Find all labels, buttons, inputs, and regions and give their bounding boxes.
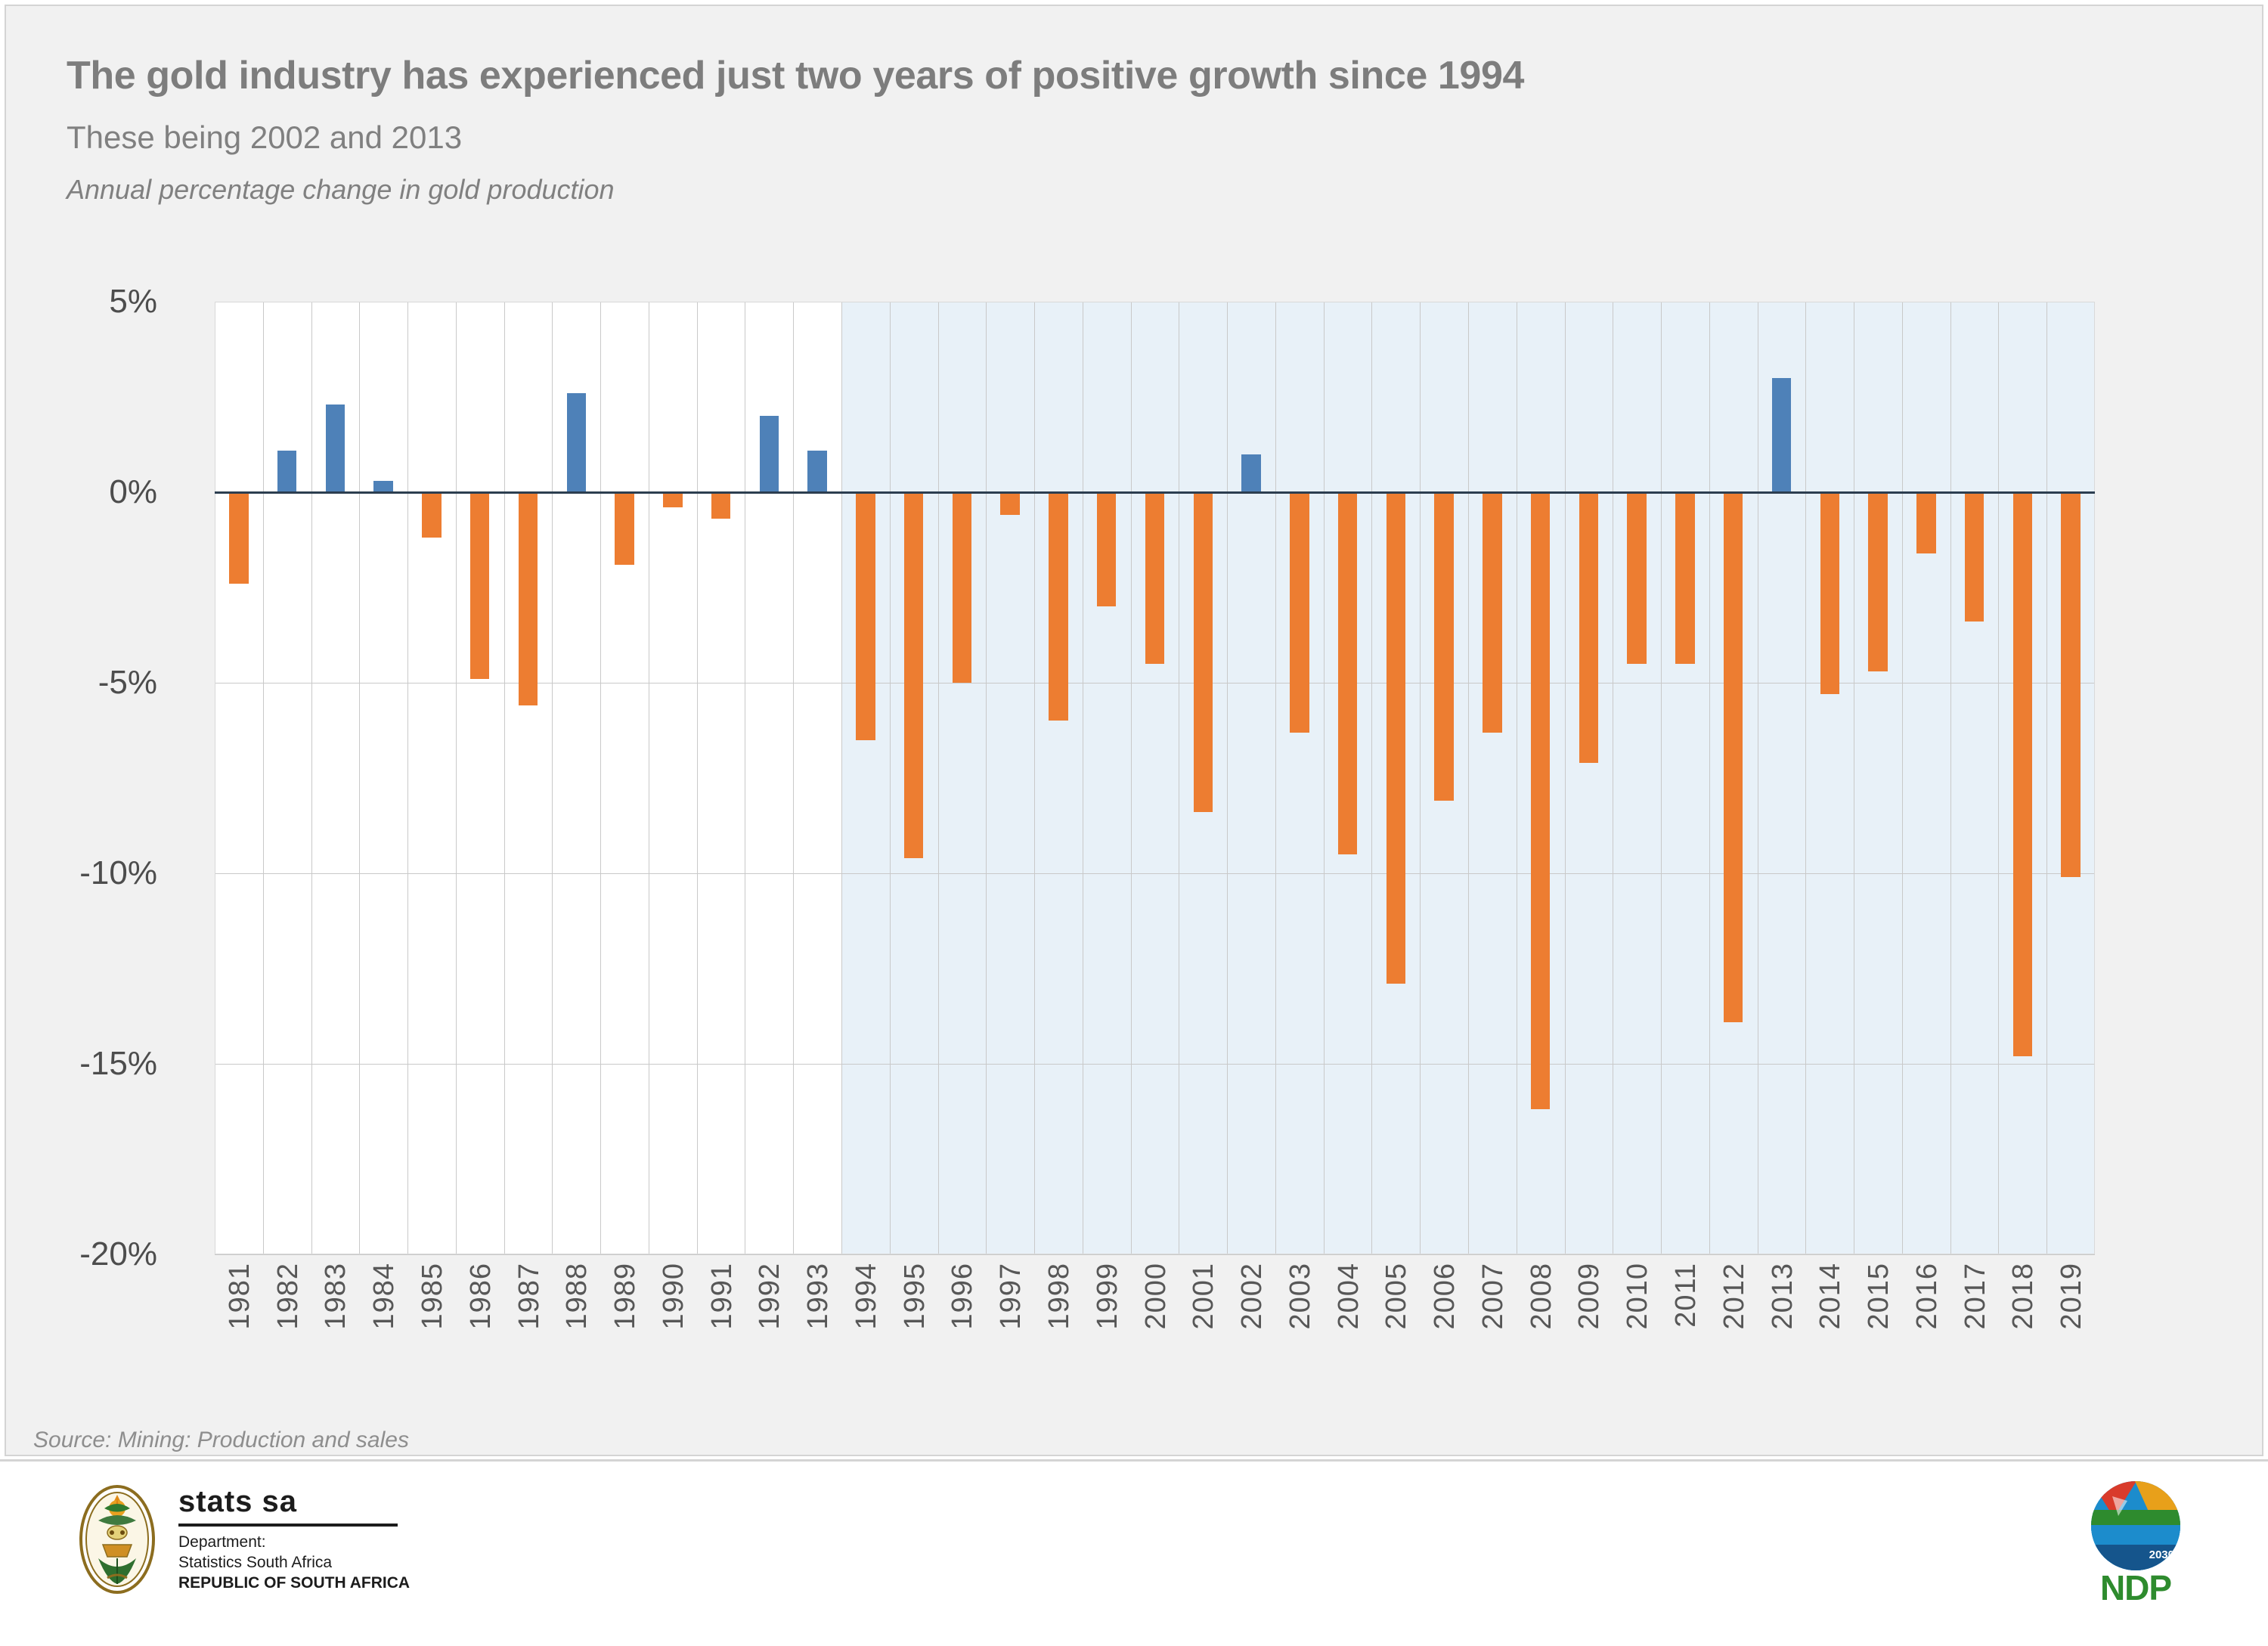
gridline-vertical	[1758, 302, 1758, 1254]
bar-1999[interactable]	[1097, 492, 1117, 606]
bar-1990[interactable]	[663, 492, 683, 507]
gridline-vertical	[600, 302, 601, 1254]
bar-1981[interactable]	[229, 492, 249, 584]
x-axis-tick-label: 2006	[1429, 1263, 1461, 1330]
x-axis-tick-label: 1981	[224, 1263, 256, 1330]
bar-2001[interactable]	[1194, 492, 1213, 812]
gridline-vertical	[359, 302, 360, 1254]
bar-2003[interactable]	[1290, 492, 1309, 733]
gridline-vertical	[1950, 302, 1951, 1254]
bar-1998[interactable]	[1049, 492, 1068, 721]
bar-2019[interactable]	[2061, 492, 2081, 877]
gridline-vertical	[456, 302, 457, 1254]
ndp-branding: 2030 NDP	[2071, 1481, 2200, 1608]
gridline-vertical	[1371, 302, 1372, 1254]
y-axis-tick-label: -10%	[0, 854, 157, 892]
bar-1996[interactable]	[953, 492, 972, 683]
bar-2012[interactable]	[1724, 492, 1743, 1022]
x-axis-tick-label: 2014	[1814, 1263, 1847, 1330]
gridline-vertical	[1468, 302, 1469, 1254]
gridline-vertical	[1661, 302, 1662, 1254]
x-axis-tick-label: 1985	[417, 1263, 449, 1330]
bar-1993[interactable]	[807, 451, 827, 492]
stats-sa-branding: stats sa Department: Statistics South Af…	[76, 1483, 410, 1596]
department-line-2: Statistics South Africa	[178, 1553, 410, 1573]
bar-2015[interactable]	[1868, 492, 1888, 671]
bar-2000[interactable]	[1145, 492, 1165, 664]
gridline-vertical	[263, 302, 264, 1254]
page-subtitle: These being 2002 and 2013	[67, 119, 462, 156]
bar-2018[interactable]	[2013, 492, 2033, 1056]
bar-1995[interactable]	[904, 492, 924, 858]
x-axis-tick-label: 2010	[1622, 1263, 1654, 1330]
gridline-vertical	[1131, 302, 1132, 1254]
ndp-wordmark: NDP	[2071, 1567, 2200, 1608]
x-axis-tick-label: 1993	[802, 1263, 835, 1330]
bar-2006[interactable]	[1434, 492, 1454, 801]
x-axis-tick-label: 2011	[1670, 1263, 1703, 1328]
gridline-vertical	[649, 302, 649, 1254]
gridline-vertical	[1420, 302, 1421, 1254]
bar-1988[interactable]	[567, 393, 587, 492]
gridline-horizontal	[215, 302, 2095, 302]
x-axis-tick-label: 1998	[1043, 1263, 1076, 1330]
gridline-vertical	[407, 302, 408, 1254]
bar-2009[interactable]	[1579, 492, 1599, 763]
chart-card: The gold industry has experienced just t…	[5, 5, 2263, 1456]
x-axis-tick-label: 1988	[561, 1263, 593, 1330]
x-axis-tick-label: 1983	[320, 1263, 352, 1330]
gridline-vertical	[697, 302, 698, 1254]
x-axis-tick-label: 2013	[1767, 1263, 1799, 1330]
bar-2013[interactable]	[1772, 378, 1792, 492]
bar-1997[interactable]	[1000, 492, 1020, 515]
x-axis-tick-label: 2000	[1140, 1263, 1173, 1330]
x-axis-tick-label: 1995	[899, 1263, 931, 1330]
bar-1986[interactable]	[470, 492, 490, 679]
stats-sa-wordmark: stats sa	[178, 1485, 410, 1524]
gridline-vertical	[793, 302, 794, 1254]
gridline-vertical	[1902, 302, 1903, 1254]
gridline-vertical	[745, 302, 745, 1254]
bar-2007[interactable]	[1483, 492, 1502, 733]
x-axis-tick-label: 2008	[1526, 1263, 1558, 1330]
x-axis-tick-label: 2002	[1236, 1263, 1269, 1330]
source-note: Source: Mining: Production and sales	[33, 1427, 409, 1453]
ndp-year-label: 2030	[2149, 1548, 2174, 1561]
bar-2002[interactable]	[1241, 454, 1261, 492]
gridline-vertical	[1179, 302, 1179, 1254]
y-axis-tick-label: 0%	[0, 473, 157, 511]
x-axis-tick-label: 2004	[1333, 1263, 1365, 1330]
gridline-vertical	[841, 302, 842, 1254]
gridline-vertical	[938, 302, 939, 1254]
gridline-vertical	[1083, 302, 1083, 1254]
bar-2008[interactable]	[1531, 492, 1551, 1109]
x-axis-tick-label: 2001	[1188, 1263, 1220, 1330]
divider	[178, 1524, 398, 1527]
y-axis-tick-label: 5%	[0, 283, 157, 321]
bar-1985[interactable]	[422, 492, 442, 538]
bar-1994[interactable]	[856, 492, 875, 740]
bar-2004[interactable]	[1338, 492, 1358, 854]
gridline-vertical	[1275, 302, 1276, 1254]
bar-1984[interactable]	[373, 481, 393, 492]
x-axis-tick-label: 1986	[465, 1263, 497, 1330]
gridline-vertical	[311, 302, 312, 1254]
x-axis-tick-label: 1982	[272, 1263, 305, 1330]
y-axis-tick-label: -5%	[0, 664, 157, 702]
gridline-vertical	[1709, 302, 1710, 1254]
y-axis-tick-label: -15%	[0, 1045, 157, 1083]
gridline-vertical	[1565, 302, 1566, 1254]
gridline-vertical	[890, 302, 891, 1254]
zero-axis-line	[215, 491, 2095, 494]
x-axis-tick-label: 1999	[1092, 1263, 1124, 1330]
bar-1987[interactable]	[519, 492, 538, 705]
ndp-logo-icon: 2030	[2091, 1481, 2180, 1570]
bar-1982[interactable]	[277, 451, 297, 492]
gridline-vertical	[2046, 302, 2047, 1254]
axis-caption: Annual percentage change in gold product…	[67, 174, 615, 206]
gridline-vertical	[504, 302, 505, 1254]
bar-1991[interactable]	[711, 492, 731, 519]
bar-2017[interactable]	[1965, 492, 1984, 622]
x-axis-tick-label: 1997	[995, 1263, 1027, 1330]
department-line-3: REPUBLIC OF SOUTH AFRICA	[178, 1573, 410, 1594]
x-axis-tick-label: 2005	[1380, 1263, 1413, 1330]
gridline-vertical	[1034, 302, 1035, 1254]
gridline-horizontal	[215, 1064, 2095, 1065]
x-axis-tick-label: 2019	[2056, 1263, 2088, 1330]
x-axis-tick-label: 1996	[947, 1263, 979, 1330]
gridline-vertical	[1613, 302, 1613, 1254]
x-axis-tick-label: 2012	[1718, 1263, 1751, 1330]
x-axis-tick-label: 1984	[368, 1263, 401, 1330]
x-axis-tick-label: 2015	[1863, 1263, 1895, 1330]
x-axis-tick-label: 1987	[513, 1263, 546, 1330]
x-axis-tick-label: 2003	[1284, 1263, 1317, 1330]
bar-1992[interactable]	[760, 416, 779, 492]
gridline-vertical	[1805, 302, 1806, 1254]
x-axis-tick-label: 2017	[1960, 1263, 1992, 1330]
chart-page: The gold industry has experienced just t…	[0, 0, 2268, 1646]
y-axis-tick-label: -20%	[0, 1235, 157, 1273]
gridline-vertical	[1227, 302, 1228, 1254]
bar-2014[interactable]	[1820, 492, 1840, 694]
x-axis-tick-label: 2018	[2007, 1263, 2040, 1330]
gridline-vertical	[1998, 302, 1999, 1254]
x-axis-tick-label: 1991	[706, 1263, 739, 1330]
gridline-horizontal	[215, 683, 2095, 684]
bar-1989[interactable]	[615, 492, 634, 565]
gridline-horizontal	[215, 873, 2095, 874]
gridline-vertical	[1324, 302, 1325, 1254]
x-axis-tick-label: 2009	[1573, 1263, 1606, 1330]
x-axis-tick-label: 1990	[658, 1263, 690, 1330]
south-africa-coat-of-arms-icon	[76, 1483, 159, 1596]
department-line-1: Department:	[178, 1533, 410, 1553]
x-axis-tick-label: 1994	[850, 1263, 883, 1330]
bar-1983[interactable]	[326, 405, 345, 492]
x-axis-tick-label: 2007	[1477, 1263, 1510, 1330]
bar-2011[interactable]	[1675, 492, 1695, 664]
gridline-vertical	[1517, 302, 1517, 1254]
x-axis-tick-label: 1992	[754, 1263, 786, 1330]
plot-background-early	[215, 302, 841, 1254]
x-axis-tick-label: 1989	[609, 1263, 642, 1330]
bar-2010[interactable]	[1627, 492, 1647, 664]
bar-2005[interactable]	[1387, 492, 1406, 984]
gridline-vertical	[986, 302, 987, 1254]
x-axis-tick-label: 2016	[1911, 1263, 1944, 1330]
page-title: The gold industry has experienced just t…	[67, 53, 2214, 98]
bar-2016[interactable]	[1916, 492, 1936, 553]
gridline-horizontal	[215, 1254, 2095, 1255]
bar-chart-plot	[215, 302, 2095, 1254]
gridline-vertical	[552, 302, 553, 1254]
footer-bar: stats sa Department: Statistics South Af…	[0, 1459, 2268, 1646]
gridline-vertical	[1854, 302, 1854, 1254]
